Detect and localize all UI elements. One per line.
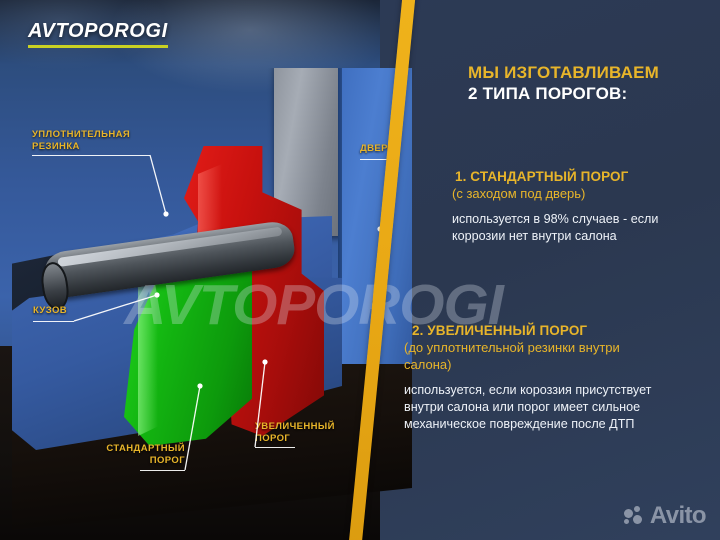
headline-line-2: 2 ТИПА ПОРОГОВ: [468, 83, 708, 104]
info-block-enlarged: 2. УВЕЛИЧЕННЫЙ ПОРОГ (до уплотнительной … [404, 322, 670, 433]
avito-watermark: Avito [624, 502, 706, 530]
brand-logo[interactable]: AVTOPOROGI [28, 20, 168, 48]
info-block-standard-title: 1. СТАНДАРТНЫЙ ПОРОГ [452, 168, 702, 185]
info-block-enlarged-body: используется, если короззия присутствует… [404, 382, 670, 433]
callout-rule-body [33, 321, 74, 322]
standard-sill-highlight [138, 276, 158, 436]
avito-dots-icon [624, 506, 646, 526]
brand-logo-text: AVTOPOROGI [28, 20, 168, 43]
callout-rule-standard [140, 470, 185, 471]
info-block-enlarged-subtitle: (до уплотнительной резинки внутри салона… [404, 339, 670, 373]
brand-logo-underline [28, 45, 168, 48]
callout-label-seal: УПЛОТНИТЕЛЬНАЯ РЕЗИНКА [32, 129, 130, 153]
headline: МЫ ИЗГОТАВЛИВАЕМ 2 ТИПА ПОРОГОВ: [468, 62, 708, 104]
callout-rule-enlarged [255, 447, 295, 448]
info-block-enlarged-title: 2. УВЕЛИЧЕННЫЙ ПОРОГ [404, 322, 670, 339]
poster-canvas: AVTOPOROGI УПЛОТНИТЕЛЬНАЯ РЕЗИНКА ДВЕРЬ … [0, 0, 720, 540]
callout-rule-seal [32, 155, 150, 156]
headline-line-1: МЫ ИЗГОТАВЛИВАЕМ [468, 62, 708, 83]
info-block-standard-subtitle: (с заходом под дверь) [452, 185, 702, 202]
info-block-standard: 1. СТАНДАРТНЫЙ ПОРОГ (с заходом под двер… [452, 168, 702, 245]
info-block-standard-body: используется в 98% случаев - если корроз… [452, 211, 702, 245]
callout-label-standard: СТАНДАРТНЫЙ ПОРОГ [93, 443, 185, 467]
callout-label-enlarged: УВЕЛИЧЕННЫЙ ПОРОГ [255, 421, 335, 445]
avito-wordmark: Avito [650, 502, 706, 530]
callout-label-body: КУЗОВ [33, 305, 67, 317]
